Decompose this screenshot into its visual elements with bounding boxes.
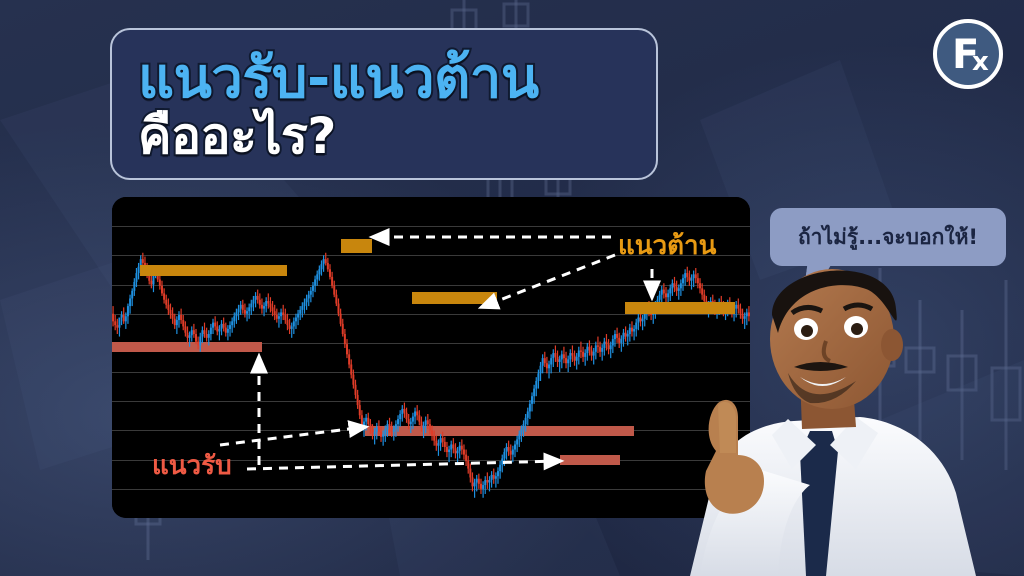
candle-body (550, 358, 552, 364)
candle-body (344, 334, 346, 344)
candle-body (408, 419, 410, 424)
support-zone (112, 342, 262, 352)
candle-body (191, 330, 193, 335)
candle-body (123, 315, 125, 321)
candle-body (412, 417, 414, 422)
candle-body (423, 425, 425, 428)
candle-body (131, 291, 133, 299)
candle-body (378, 427, 380, 432)
candle-body (240, 305, 242, 309)
logo-letter-x: x (972, 47, 989, 77)
pupil-left (801, 325, 813, 337)
candlestick-chart-panel[interactable]: แนวต้าน แนวรับ (112, 197, 750, 518)
candle-body (174, 319, 176, 325)
candle-body (176, 320, 178, 325)
candle-body (401, 409, 403, 414)
candle-body (622, 333, 624, 339)
candle-body (223, 324, 225, 328)
candle-body (374, 432, 376, 435)
candle-body (448, 450, 450, 453)
candle-body (554, 353, 556, 357)
candle-body (633, 329, 635, 332)
candle-body (352, 375, 354, 385)
index-finger (718, 402, 736, 453)
candle-body (295, 318, 297, 322)
candle-body (218, 329, 220, 332)
candle-body (516, 439, 518, 444)
candle-body (357, 395, 359, 405)
support-zone (365, 426, 634, 436)
candle-body (161, 286, 163, 294)
candle-body (505, 447, 507, 452)
candle-body (559, 359, 561, 362)
resistance-zone (341, 239, 372, 253)
candle-body (116, 325, 118, 328)
candle-body (133, 282, 135, 291)
candle-body (420, 422, 422, 428)
candle-body (480, 484, 482, 489)
candle-body (361, 415, 363, 425)
candle-body (603, 342, 605, 348)
candle-body (182, 320, 184, 326)
candle-body (363, 422, 365, 426)
candle-body (204, 330, 206, 334)
candle-body (121, 315, 123, 318)
candle-body (567, 359, 569, 363)
candle-body (580, 351, 582, 352)
candle-body (469, 469, 471, 478)
candle-body (331, 277, 333, 286)
candle-body (557, 357, 559, 362)
candle-body (112, 314, 114, 322)
candle-body (163, 293, 165, 299)
candle-body (565, 358, 567, 363)
candle-body (514, 444, 516, 449)
candle-body (461, 446, 463, 450)
candle-body (463, 450, 465, 455)
candle-body (340, 314, 342, 324)
candle-body (350, 364, 352, 374)
candle-body (605, 342, 607, 345)
candle-body (216, 326, 218, 331)
candle-body (259, 300, 261, 305)
candle-body (482, 485, 484, 489)
candle-body (180, 315, 182, 320)
candle-body (425, 420, 427, 425)
candle-body (544, 358, 546, 363)
candle-body (320, 264, 322, 269)
candle-body (433, 436, 435, 441)
candle-body (301, 306, 303, 310)
candle-body (478, 479, 480, 484)
candle-body (257, 296, 259, 300)
candle-body (493, 475, 495, 479)
candle-body (189, 335, 191, 338)
candle-body (114, 321, 116, 325)
candle-body (169, 310, 171, 314)
candle-body (457, 451, 459, 454)
speech-bubble-text: ถ้าไม่รู้...จะบอกให้! (798, 221, 978, 254)
candle-body (380, 432, 382, 437)
candle-body (610, 345, 612, 349)
candle-body (159, 279, 161, 285)
candle-body (221, 324, 223, 329)
candle-body (255, 296, 257, 300)
candle-body (403, 409, 405, 413)
candle-body (503, 452, 505, 458)
candle-body (612, 339, 614, 345)
candle-body (293, 321, 295, 326)
resistance-zone (412, 292, 497, 304)
candle-body (229, 325, 231, 329)
candle-body (520, 429, 522, 434)
candle-body (138, 267, 140, 273)
candle-body (418, 415, 420, 421)
candle-body (250, 304, 252, 308)
pupil-right (851, 323, 863, 335)
title-card: แนวรับ-แนวต้าน คืออะไร? (110, 28, 658, 180)
candle-body (599, 347, 601, 352)
ear (881, 329, 903, 361)
presenter-photo (660, 255, 1024, 576)
candle-body (437, 443, 439, 446)
candle-body (446, 447, 448, 452)
candle-body (267, 301, 269, 304)
candle-body (486, 480, 488, 483)
candle-body (276, 315, 278, 319)
candle-body (616, 334, 618, 338)
candle-body (238, 309, 240, 313)
candle-body (306, 298, 308, 302)
page-title-line2: คืออะไร? (138, 111, 630, 162)
candle-body (525, 418, 527, 424)
candle-body (474, 483, 476, 487)
candle-body (627, 334, 629, 337)
candle-body (459, 446, 461, 451)
candle-body (165, 300, 167, 305)
candle-body (595, 345, 597, 351)
candle-body (542, 358, 544, 366)
candle-body (359, 405, 361, 415)
candle-body (252, 300, 254, 304)
candle-body (367, 418, 369, 424)
candle-body (289, 325, 291, 329)
candle-body (248, 307, 250, 311)
candle-body (382, 434, 384, 437)
candle-body (235, 312, 237, 316)
candle-body (167, 305, 169, 310)
candle-body (178, 315, 180, 320)
candle-body (620, 339, 622, 343)
candle-body (442, 438, 444, 442)
candle-body (265, 301, 267, 306)
candle-body (399, 414, 401, 419)
candle-body (435, 441, 437, 446)
candle-body (244, 310, 246, 314)
candle-body (593, 352, 595, 356)
candle-body (184, 326, 186, 332)
candle-body (135, 273, 137, 282)
candle-body (312, 286, 314, 291)
candle-body (465, 455, 467, 461)
candle-body (410, 422, 412, 425)
support-label: แนวรับ (152, 445, 232, 486)
candle-body (618, 338, 620, 343)
candle-body (450, 444, 452, 449)
candle-body (310, 291, 312, 295)
candle-body (333, 286, 335, 295)
candle-body (329, 269, 331, 277)
candle-body (454, 448, 456, 453)
candle-body (280, 312, 282, 316)
candle-body (429, 424, 431, 430)
candle-body (639, 318, 641, 322)
candle-body (608, 344, 610, 349)
candle-body (510, 451, 512, 455)
candle-body (337, 304, 339, 314)
candle-body (355, 385, 357, 395)
candle-body (172, 314, 174, 319)
candle-body (386, 424, 388, 429)
candle-body (540, 366, 542, 374)
candle-body (533, 389, 535, 397)
candle-body (586, 347, 588, 353)
candle-body (342, 324, 344, 334)
candle-body (186, 333, 188, 338)
candle-body (389, 424, 391, 428)
candle-body (384, 429, 386, 434)
candle-body (323, 259, 325, 264)
candle-body (242, 305, 244, 310)
candle-body (588, 347, 590, 351)
candle-body (335, 295, 337, 304)
candle-body (508, 447, 510, 451)
candle-body (142, 259, 144, 263)
candle-body (476, 479, 478, 483)
candle-body (261, 305, 263, 309)
candle-body (284, 315, 286, 320)
candle-body (365, 418, 367, 422)
candle-body (537, 373, 539, 381)
candle-body (574, 356, 576, 361)
candle-body (327, 263, 329, 269)
candle-body (523, 424, 525, 429)
candle-body (393, 429, 395, 432)
candle-body (452, 444, 454, 448)
candle-body (578, 351, 580, 357)
candle-body (635, 323, 637, 329)
candle-body (233, 316, 235, 321)
candle-body (316, 274, 318, 279)
candle-body (499, 465, 501, 471)
candle-body (512, 450, 514, 455)
candle-body (201, 330, 203, 336)
candle-body (629, 328, 631, 334)
candle-body (546, 363, 548, 368)
candle-body (561, 354, 563, 359)
candle-body (225, 328, 227, 333)
candle-body (625, 333, 627, 337)
candle-body (129, 298, 131, 306)
candle-body (303, 302, 305, 306)
candle-body (231, 321, 233, 325)
candle-body (193, 330, 195, 334)
candle-body (444, 442, 446, 447)
candle-body (376, 427, 378, 432)
candle-body (118, 318, 120, 328)
candle-body (406, 413, 408, 419)
candle-body (563, 354, 565, 358)
candle-body (576, 357, 578, 361)
candle-body (227, 329, 229, 333)
candle-body (529, 404, 531, 412)
candle-body (440, 438, 442, 443)
candle-body (518, 434, 520, 439)
candle-body (431, 430, 433, 435)
candle-body (495, 476, 497, 479)
candle-body (427, 420, 429, 424)
candle-body (552, 353, 554, 358)
resistance-zone (140, 265, 287, 276)
candle-body (325, 259, 327, 263)
candle-body (597, 345, 599, 346)
candle-body (582, 352, 584, 357)
candle-body (282, 312, 284, 315)
candle-body (397, 419, 399, 424)
candle-body (531, 396, 533, 404)
candle-body (471, 477, 473, 486)
candle-body (150, 281, 152, 285)
candle-body (297, 314, 299, 318)
candle-body (208, 334, 210, 338)
candle-body (584, 353, 586, 357)
candle-body (291, 326, 293, 329)
candle-body (491, 475, 493, 480)
candle-body (210, 328, 212, 334)
infographic-canvas: F x แนวรับ-แนวต้าน คืออะไร? ถ้าไม่รู้...… (0, 0, 1024, 576)
candle-body (591, 351, 593, 356)
candle-body (346, 344, 348, 354)
candle-body (199, 337, 201, 346)
candle-body (314, 279, 316, 285)
candle-body (497, 471, 499, 476)
candle-body (286, 320, 288, 325)
candle-body (395, 424, 397, 429)
candle-body (308, 295, 310, 299)
candle-body (214, 323, 216, 327)
candle-body (637, 318, 639, 323)
candle-body (263, 306, 265, 309)
support-zone (560, 455, 620, 465)
candle-body (197, 342, 199, 346)
candle-body (246, 311, 248, 314)
candle-body (488, 480, 490, 483)
fx-logo[interactable]: F x (930, 16, 1006, 92)
candle-body (212, 323, 214, 328)
candle-body (299, 310, 301, 314)
candle-body (391, 428, 393, 432)
candle-body (527, 411, 529, 417)
candle-body (535, 381, 537, 389)
candle-body (372, 429, 374, 434)
page-title-line1: แนวรับ-แนวต้าน (138, 50, 630, 107)
candle-body (272, 307, 274, 311)
candle-body (601, 348, 603, 352)
candle-body (569, 353, 571, 359)
candle-body (416, 411, 418, 415)
candle-body (548, 364, 550, 368)
candle-body (195, 334, 197, 342)
candle-body (348, 354, 350, 364)
candle-body (278, 316, 280, 319)
candle-body (127, 306, 129, 316)
candle-body (614, 334, 616, 339)
candle-body (642, 319, 644, 322)
candle-body (318, 269, 320, 274)
candle-body (571, 353, 573, 356)
candle-body (125, 316, 127, 321)
candle-body (631, 328, 633, 332)
candle-body (369, 424, 371, 429)
candle-body (467, 461, 469, 469)
candle-body (269, 304, 271, 308)
candle-body (148, 276, 150, 281)
candle-body (484, 480, 486, 485)
candle-body (274, 311, 276, 315)
candle-body (206, 334, 208, 338)
candle-body (414, 411, 416, 416)
